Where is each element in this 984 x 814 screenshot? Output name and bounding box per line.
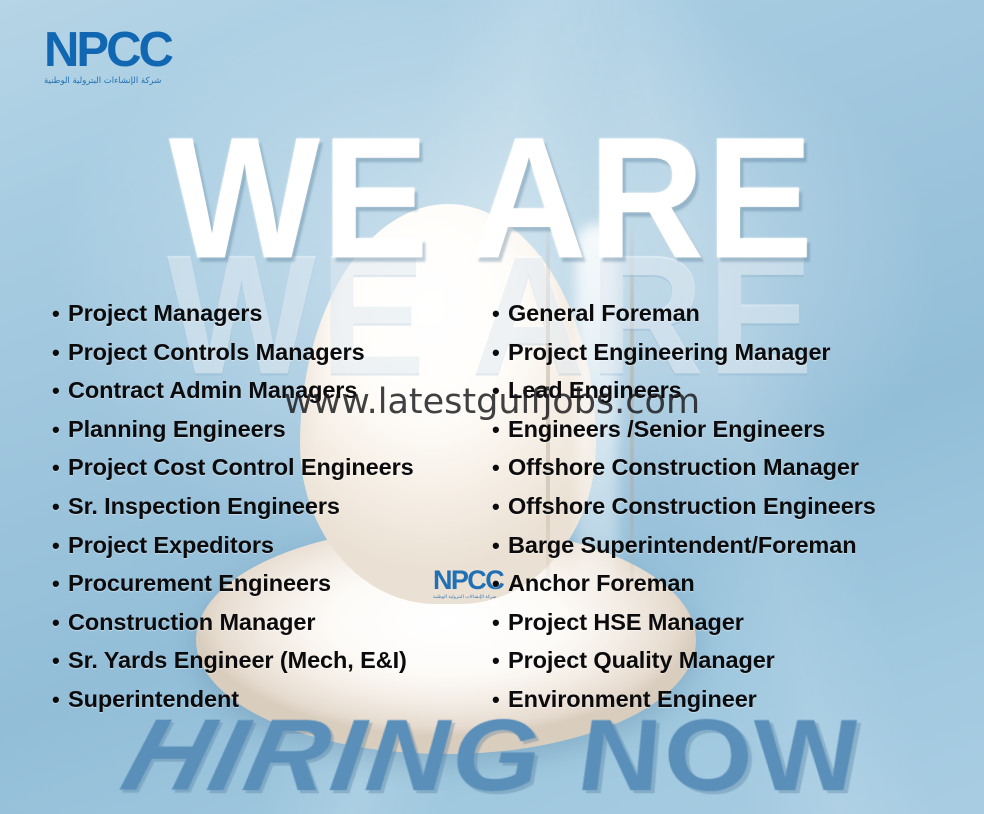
vacancy-label: Procurement Engineers <box>68 570 331 597</box>
vacancy-label: Engineers /Senior Engineers <box>508 416 825 443</box>
vacancy-item: •Project Engineering Manager <box>492 339 962 378</box>
bullet-icon: • <box>52 573 68 595</box>
bullet-icon: • <box>52 496 68 518</box>
bullet-icon: • <box>492 689 508 711</box>
vacancy-item: •Project HSE Manager <box>492 609 962 648</box>
vacancy-label: Project Managers <box>68 300 262 327</box>
vacancy-column-right: •General Foreman•Project Engineering Man… <box>492 300 962 725</box>
vacancy-item: •Offshore Construction Engineers <box>492 493 962 532</box>
vacancy-item: •Planning Engineers <box>52 416 482 455</box>
vacancy-label: Barge Superintendent/Foreman <box>508 532 856 559</box>
bullet-icon: • <box>492 380 508 402</box>
vacancy-item: •Project Controls Managers <box>52 339 482 378</box>
vacancy-label: Project HSE Manager <box>508 609 744 636</box>
vacancy-item: •Anchor Foreman <box>492 570 962 609</box>
hiring-poster: WE ARE WE ARE HIRING NOW NPCC شركة الإنش… <box>0 0 984 814</box>
vacancy-label: Project Controls Managers <box>68 339 365 366</box>
vacancy-label: Offshore Construction Engineers <box>508 493 876 520</box>
vacancy-item: •General Foreman <box>492 300 962 339</box>
vacancy-label: Anchor Foreman <box>508 570 695 597</box>
vacancy-label: Project Quality Manager <box>508 647 775 674</box>
bullet-icon: • <box>52 303 68 325</box>
bullet-icon: • <box>52 689 68 711</box>
vacancy-item: •Contract Admin Managers <box>52 377 482 416</box>
vacancy-item: •Procurement Engineers <box>52 570 482 609</box>
vacancy-label: Sr. Inspection Engineers <box>68 493 340 520</box>
bullet-icon: • <box>492 573 508 595</box>
vacancy-item: •Environment Engineer <box>492 686 962 725</box>
bullet-icon: • <box>492 419 508 441</box>
vacancy-item: •Project Cost Control Engineers <box>52 454 482 493</box>
vacancy-label: Project Expeditors <box>68 532 274 559</box>
bullet-icon: • <box>492 303 508 325</box>
vacancy-label: Contract Admin Managers <box>68 377 357 404</box>
vacancy-lists: •Project Managers•Project Controls Manag… <box>0 0 984 814</box>
vacancy-label: Lead Engineers <box>508 377 682 404</box>
vacancy-item: •Sr. Yards Engineer (Mech, E&I) <box>52 647 482 686</box>
bullet-icon: • <box>52 380 68 402</box>
vacancy-label: Environment Engineer <box>508 686 757 713</box>
vacancy-item: •Sr. Inspection Engineers <box>52 493 482 532</box>
vacancy-label: Sr. Yards Engineer (Mech, E&I) <box>68 647 407 674</box>
bullet-icon: • <box>52 535 68 557</box>
vacancy-label: Project Engineering Manager <box>508 339 830 366</box>
vacancy-label: Offshore Construction Manager <box>508 454 859 481</box>
vacancy-item: •Superintendent <box>52 686 482 725</box>
bullet-icon: • <box>52 419 68 441</box>
vacancy-item: •Engineers /Senior Engineers <box>492 416 962 455</box>
vacancy-item: •Lead Engineers <box>492 377 962 416</box>
vacancy-item: •Construction Manager <box>52 609 482 648</box>
bullet-icon: • <box>492 457 508 479</box>
vacancy-item: •Project Managers <box>52 300 482 339</box>
bullet-icon: • <box>492 496 508 518</box>
bullet-icon: • <box>492 342 508 364</box>
vacancy-item: •Offshore Construction Manager <box>492 454 962 493</box>
vacancy-label: Superintendent <box>68 686 239 713</box>
vacancy-column-left: •Project Managers•Project Controls Manag… <box>52 300 482 725</box>
vacancy-label: Project Cost Control Engineers <box>68 454 414 481</box>
bullet-icon: • <box>492 535 508 557</box>
vacancy-label: Construction Manager <box>68 609 315 636</box>
bullet-icon: • <box>52 650 68 672</box>
bullet-icon: • <box>52 457 68 479</box>
bullet-icon: • <box>492 650 508 672</box>
vacancy-label: General Foreman <box>508 300 700 327</box>
vacancy-item: •Project Quality Manager <box>492 647 962 686</box>
bullet-icon: • <box>52 342 68 364</box>
vacancy-item: •Project Expeditors <box>52 532 482 571</box>
vacancy-item: •Barge Superintendent/Foreman <box>492 532 962 571</box>
bullet-icon: • <box>52 612 68 634</box>
bullet-icon: • <box>492 612 508 634</box>
vacancy-label: Planning Engineers <box>68 416 286 443</box>
